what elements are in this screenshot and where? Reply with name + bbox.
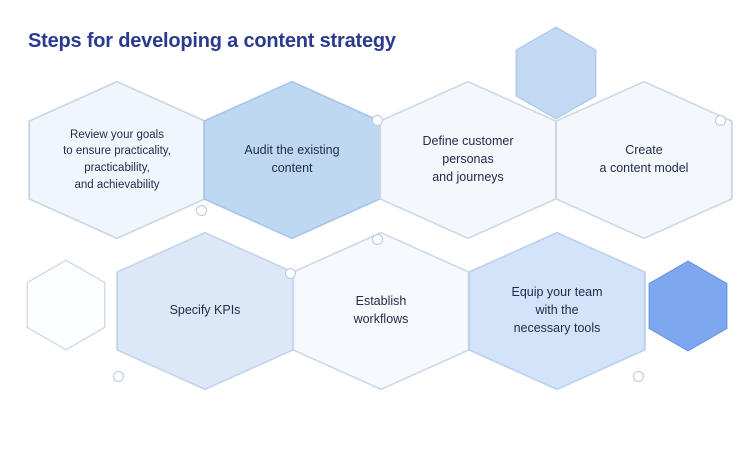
step-label: Audit the existing content [234,142,349,178]
decorative-hexagon-left [26,259,106,351]
step-label: Equip your team with the necessary tools [501,284,612,337]
connector-node-2 [372,115,383,126]
step-hexagon-equip-team[interactable]: Equip your team with the necessary tools [467,231,647,391]
step-label: Specify KPIs [160,302,251,320]
connector-node-5 [715,115,726,126]
step-label: Define customer personas and journeys [412,133,523,186]
connector-node-4 [285,268,296,279]
step-label: Create a content model [590,142,699,178]
decorative-hexagon-right [648,260,728,352]
step-hexagon-review-goals[interactable]: Review your goals to ensure practicality… [27,80,207,240]
connector-node-1 [196,205,207,216]
step-label: Review your goals to ensure practicality… [53,127,181,194]
step-hexagon-define-personas[interactable]: Define customer personas and journeys [378,80,558,240]
step-hexagon-establish-workflows[interactable]: Establish workflows [291,231,471,391]
hexagon-shape-icon [648,260,728,352]
step-hexagon-create-content-model[interactable]: Create a content model [554,80,734,240]
connector-node-7 [633,371,644,382]
connector-node-6 [113,371,124,382]
hexagon-shape-icon [26,259,106,351]
page-title: Steps for developing a content strategy [28,30,396,53]
infographic-canvas: Steps for developing a content strategy … [0,0,750,450]
step-label: Establish workflows [344,293,419,329]
step-hexagon-specify-kpis[interactable]: Specify KPIs [115,231,295,391]
step-hexagon-audit-content[interactable]: Audit the existing content [202,80,382,240]
connector-node-3 [372,234,383,245]
